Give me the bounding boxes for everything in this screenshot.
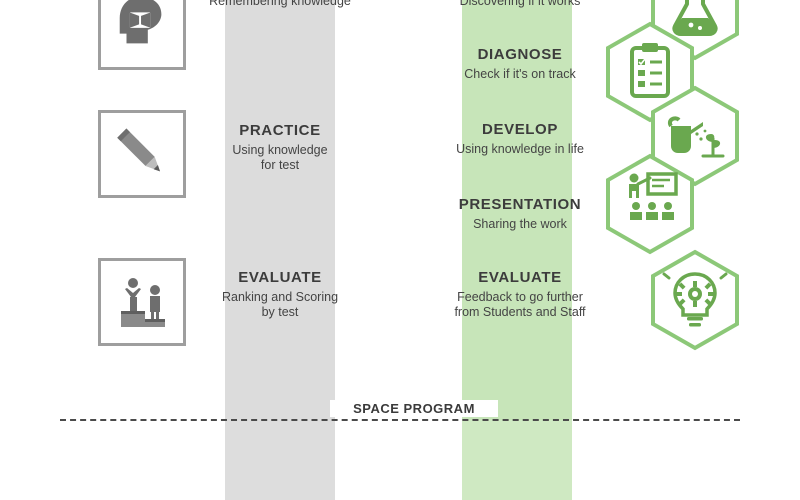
right-step-4-text: EVALUATE Feedback to go further from Stu… xyxy=(420,269,620,321)
right-step-3-title: PRESENTATION xyxy=(420,196,620,215)
left-step-2-subtitle-line1: Ranking and Scoring xyxy=(185,290,375,306)
right-step-4-subtitle-line2: from Students and Staff xyxy=(420,305,620,321)
right-step-0-text: Discovering if it works xyxy=(420,0,620,10)
icon-box-remember xyxy=(98,0,186,70)
right-step-3-text: PRESENTATION Sharing the work xyxy=(420,196,620,232)
head-with-book-icon xyxy=(101,0,183,53)
space-program-label: SPACE PROGRAM xyxy=(330,400,498,417)
right-step-1-subtitle-line1: Check if it's on track xyxy=(420,67,620,83)
left-step-1-subtitle-line1: Using knowledge xyxy=(185,143,375,159)
dashed-divider xyxy=(60,419,740,421)
right-step-4-subtitle-line1: Feedback to go further xyxy=(420,290,620,306)
left-step-2-subtitle-line2: by test xyxy=(185,305,375,321)
left-step-2-title: EVALUATE xyxy=(185,269,375,288)
pencil-icon xyxy=(101,119,183,189)
hex-presentation xyxy=(600,152,684,246)
left-step-1-title: PRACTICE xyxy=(185,122,375,141)
right-step-0-subtitle: Discovering if it works xyxy=(420,0,620,10)
right-step-3-subtitle-line1: Sharing the work xyxy=(420,217,620,233)
podium-winner-icon xyxy=(101,267,183,337)
hex-evaluate xyxy=(645,248,729,342)
right-step-1-text: DIAGNOSE Check if it's on track xyxy=(420,46,620,82)
right-step-2-title: DEVELOP xyxy=(420,121,620,140)
green-beam xyxy=(462,420,572,500)
grey-band xyxy=(225,0,335,420)
left-step-0-text: Remembering knowledge xyxy=(185,0,375,10)
left-step-2-text: EVALUATE Ranking and Scoring by test xyxy=(185,269,375,321)
icon-box-practice xyxy=(98,110,186,198)
left-step-1-text: PRACTICE Using knowledge for test xyxy=(185,122,375,174)
grey-beam xyxy=(225,420,335,500)
icon-box-evaluate xyxy=(98,258,186,346)
right-step-4-title: EVALUATE xyxy=(420,269,620,288)
left-step-0-subtitle: Remembering knowledge xyxy=(185,0,375,10)
left-step-1-subtitle-line2: for test xyxy=(185,158,375,174)
diagram-canvas: SPACE PROGRAM xyxy=(0,0,800,500)
right-step-2-subtitle-line1: Using knowledge in life xyxy=(420,142,620,158)
right-step-1-title: DIAGNOSE xyxy=(420,46,620,65)
right-step-2-text: DEVELOP Using knowledge in life xyxy=(420,121,620,157)
